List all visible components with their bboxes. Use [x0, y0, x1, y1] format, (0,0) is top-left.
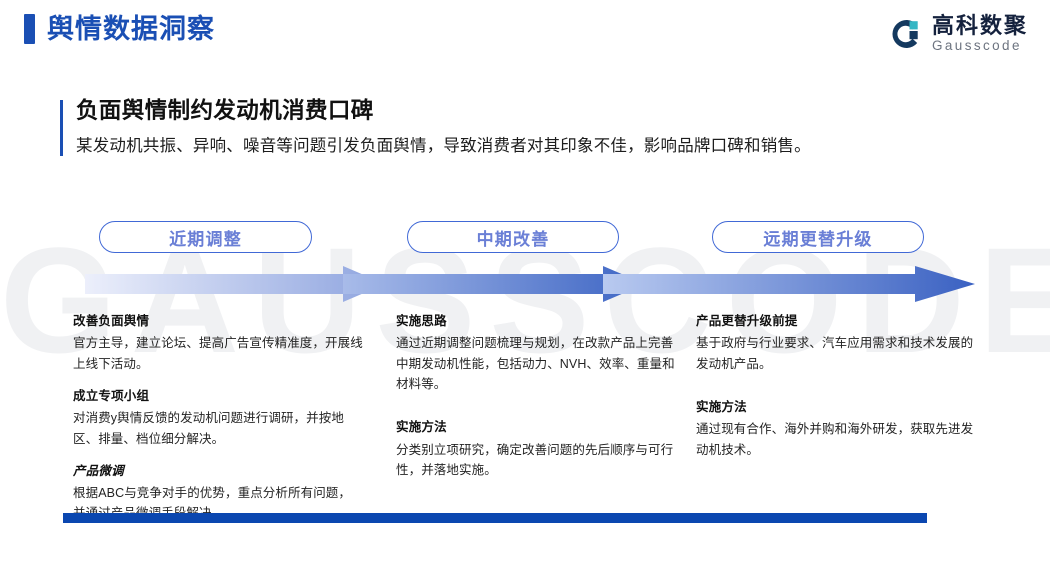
content-block-title: 实施方法: [696, 398, 978, 417]
content-block-body: 分类别立项研究，确定改善问题的先后顺序与可行性，并落地实施。: [396, 440, 676, 481]
content-block-title: 产品微调: [73, 462, 363, 481]
content-block: 改善负面舆情 官方主导，建立论坛、提高广告宣传精准度，开展线上线下活动。: [73, 312, 363, 374]
content-block-title: 成立专项小组: [73, 387, 363, 406]
content-block-body: 通过现有合作、海外并购和海外研发，获取先进发动机技术。: [696, 419, 978, 460]
brand-logo-text: 高科数聚 Gausscode: [932, 14, 1028, 53]
content-block-title: 实施思路: [396, 312, 676, 331]
content-block-body: 官方主导，建立论坛、提高广告宣传精准度，开展线上线下活动。: [73, 333, 363, 374]
headline-block: 负面舆情制约发动机消费口碑 某发动机共振、异响、噪音等问题引发负面舆情，导致消费…: [60, 96, 1006, 158]
column-near-term: 改善负面舆情 官方主导，建立论坛、提高广告宣传精准度，开展线上线下活动。 成立专…: [73, 312, 363, 524]
timeline-arrow: [85, 266, 975, 302]
stage-pill-mid-term[interactable]: 中期改善: [407, 221, 619, 253]
content-block: 实施方法 通过现有合作、海外并购和海外研发，获取先进发动机技术。: [696, 398, 978, 460]
header-title-group: 舆情数据洞察: [24, 14, 215, 44]
slide-header: 舆情数据洞察 高科数聚 Gausscode: [0, 0, 1050, 72]
brand-name-cn: 高科数聚: [932, 14, 1028, 38]
header-accent-bar: [24, 14, 35, 44]
content-block-body: 对消费y舆情反馈的发动机问题进行调研，并按地区、排量、档位细分解决。: [73, 408, 363, 449]
brand-logo: 高科数聚 Gausscode: [887, 14, 1028, 53]
gausscode-logo-mark-icon: [887, 16, 923, 52]
stage-pill-long-term[interactable]: 远期更替升级: [712, 221, 924, 253]
content-block-title: 改善负面舆情: [73, 312, 363, 331]
subheadline-text: 某发动机共振、异响、噪音等问题引发负面舆情，导致消费者对其印象不佳，影响品牌口碑…: [76, 135, 1006, 158]
stage-pill-row: 近期调整 中期改善 远期更替升级: [0, 221, 1050, 255]
stage-pill-label: 中期改善: [477, 225, 550, 250]
content-block-body: 通过近期调整问题梳理与规划，在改款产品上完善中期发动机性能，包括动力、NVH、效…: [396, 333, 676, 394]
slide-canvas: GAUSSCODE 舆情数据洞察 高科数聚 Gausscode 负面舆情制约发动…: [0, 0, 1050, 588]
stage-pill-near-term[interactable]: 近期调整: [99, 221, 312, 253]
stage-pill-label: 远期更替升级: [763, 225, 872, 250]
content-block: 成立专项小组 对消费y舆情反馈的发动机问题进行调研，并按地区、排量、档位细分解决…: [73, 387, 363, 449]
content-block-body: 基于政府与行业要求、汽车应用需求和技术发展的发动机产品。: [696, 333, 978, 374]
brand-name-en: Gausscode: [932, 38, 1028, 54]
content-block-title: 产品更替升级前提: [696, 312, 978, 331]
content-block: 实施思路 通过近期调整问题梳理与规划，在改款产品上完善中期发动机性能，包括动力、…: [396, 312, 676, 394]
column-long-term: 产品更替升级前提 基于政府与行业要求、汽车应用需求和技术发展的发动机产品。 实施…: [696, 312, 978, 460]
headline-text: 负面舆情制约发动机消费口碑: [76, 96, 1006, 126]
stage-pill-label: 近期调整: [169, 225, 242, 250]
page-title: 舆情数据洞察: [47, 16, 215, 43]
content-block: 产品更替升级前提 基于政府与行业要求、汽车应用需求和技术发展的发动机产品。: [696, 312, 978, 374]
content-block: 实施方法 分类别立项研究，确定改善问题的先后顺序与可行性，并落地实施。: [396, 418, 676, 480]
footer-accent-bar: [63, 513, 927, 523]
column-mid-term: 实施思路 通过近期调整问题梳理与规划，在改款产品上完善中期发动机性能，包括动力、…: [396, 312, 676, 480]
content-block-title: 实施方法: [396, 418, 676, 437]
